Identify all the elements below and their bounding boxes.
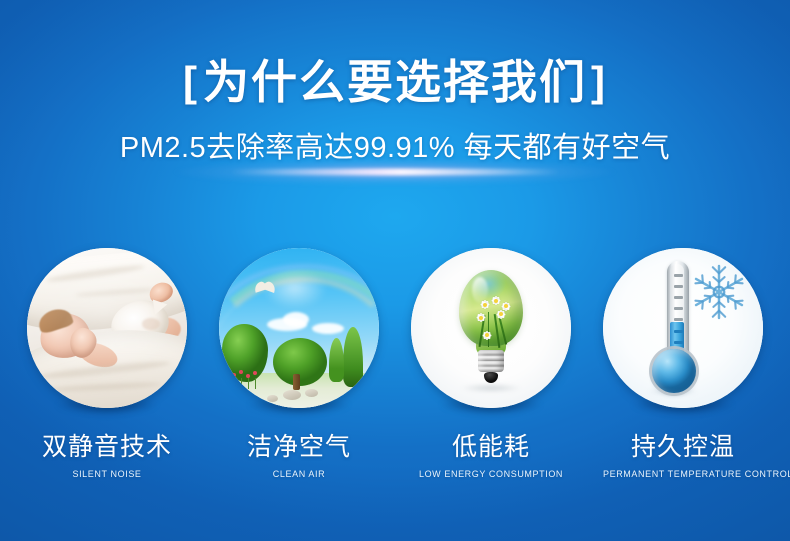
- feature-item-temperature-control: [603, 248, 763, 412]
- feature-circle-wrap: [411, 248, 571, 412]
- bird-icon: [254, 282, 276, 292]
- lightbulb-artwork: [411, 248, 571, 408]
- page-title-text: 为什么要选择我们: [203, 56, 587, 108]
- feature-label-cn: 洁净空气: [219, 432, 379, 462]
- feature-label-clean-air: 洁净空气 CLEAN AIR: [219, 432, 379, 479]
- feature-label-silent-noise: 双静音技术 SILENT NOISE: [27, 432, 187, 479]
- feature-label-cn: 低能耗: [411, 432, 571, 462]
- snowflake-icon: [688, 261, 750, 323]
- bracket-left-icon: [: [179, 58, 203, 105]
- sleeping-baby-photo-icon: [27, 248, 187, 408]
- feature-label-temperature-control: 持久控温 PERMANENT TEMPERATURE CONTROL: [603, 432, 763, 479]
- feature-label-en: PERMANENT TEMPERATURE CONTROL: [603, 469, 763, 479]
- baby-artwork: [27, 248, 187, 408]
- promo-banner: [为什么要选择我们] PM2.5去除率高达99.91% 每天都有好空气: [0, 0, 790, 541]
- feature-icon-row: [0, 248, 790, 412]
- feature-label-low-energy: 低能耗 LOW ENERGY CONSUMPTION: [411, 432, 571, 479]
- page-title: [为什么要选择我们]: [0, 58, 790, 108]
- feature-label-en: CLEAN AIR: [219, 469, 379, 479]
- feature-label-en: LOW ENERGY CONSUMPTION: [411, 469, 571, 479]
- thermometer-snowflake-icon: [603, 248, 763, 408]
- feature-item-silent-noise: [27, 248, 187, 412]
- nature-rainbow-photo-icon: [219, 248, 379, 408]
- feature-item-low-energy: [411, 248, 571, 412]
- feature-label-cn: 双静音技术: [27, 432, 187, 462]
- banner-header: [为什么要选择我们] PM2.5去除率高达99.91% 每天都有好空气: [0, 58, 790, 166]
- feature-label-cn: 持久控温: [603, 432, 763, 462]
- feature-circle-wrap: [603, 248, 763, 412]
- feature-circle-wrap: [219, 248, 379, 412]
- bracket-right-icon: ]: [587, 58, 611, 105]
- feature-circle-wrap: [27, 248, 187, 412]
- feature-label-en: SILENT NOISE: [27, 469, 187, 479]
- feature-item-clean-air: [219, 248, 379, 412]
- feature-label-row: 双静音技术 SILENT NOISE 洁净空气 CLEAN AIR 低能耗 LO…: [0, 432, 790, 479]
- eco-lightbulb-icon: [411, 248, 571, 408]
- page-subtitle: PM2.5去除率高达99.91% 每天都有好空气: [0, 124, 790, 166]
- nature-artwork: [219, 248, 379, 408]
- thermometer-artwork: [603, 248, 763, 408]
